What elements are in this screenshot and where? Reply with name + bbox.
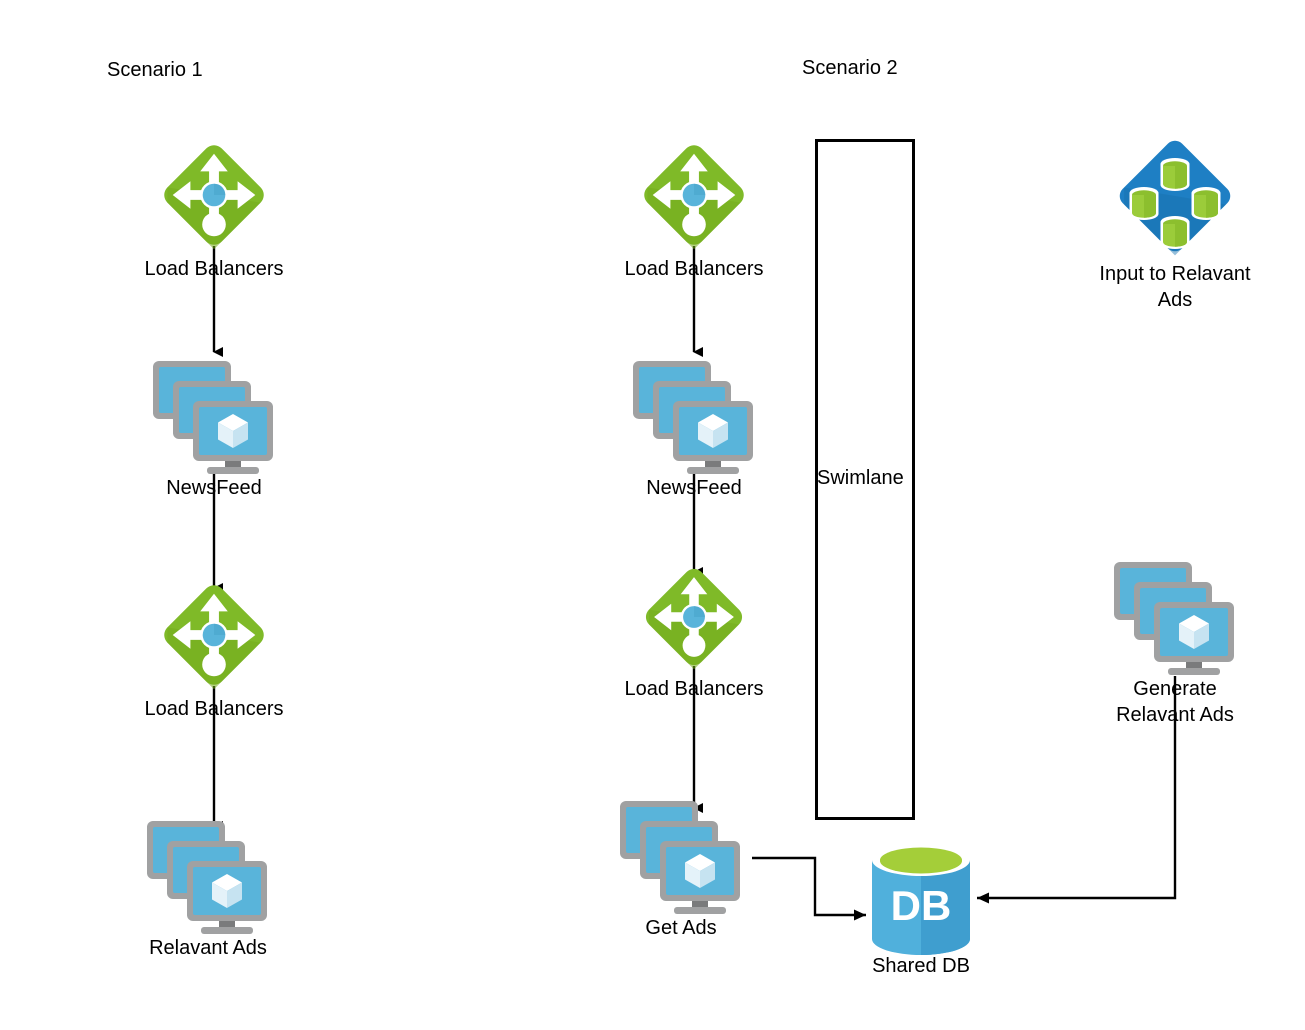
swimlane-label: Swimlane [817, 466, 904, 490]
node-s2-shared-db[interactable]: DB Shared DB [821, 843, 1021, 979]
load-balancer-icon [633, 560, 755, 674]
load-balancer-icon [153, 136, 275, 254]
database-cylinder-icon: DB [866, 843, 976, 957]
node-label: Load Balancers [594, 676, 794, 702]
cylinder-bottom [1161, 216, 1190, 249]
virtual-machines-icon [145, 817, 271, 935]
virtual-machines-icon [1112, 558, 1238, 676]
diagram-canvas: Scenario 1 Scenario 2 Swimlane [0, 0, 1305, 1030]
node-s1-newsfeed[interactable]: NewsFeed [114, 357, 314, 501]
node-label: Load Balancers [114, 696, 314, 722]
cylinder-left [1130, 187, 1159, 220]
cylinder-right [1192, 187, 1221, 220]
virtual-machines-icon [631, 357, 757, 475]
node-s1-relavant-ads[interactable]: Relavant Ads [108, 817, 308, 961]
scenario-1-title: Scenario 1 [107, 58, 203, 82]
node-label: Relavant Ads [108, 935, 308, 961]
scenario-2-title: Scenario 2 [802, 56, 898, 80]
node-s1-load-balancers-1[interactable]: Load Balancers [114, 136, 314, 282]
node-s1-load-balancers-2[interactable]: Load Balancers [114, 576, 314, 722]
node-label: Generate Relavant Ads [1075, 676, 1275, 728]
node-label: Get Ads [581, 915, 781, 941]
node-s2-load-balancers-1[interactable]: Load Balancers [594, 136, 794, 282]
db-glyph-text: DB [891, 882, 952, 929]
node-label: Load Balancers [594, 256, 794, 282]
node-s2-input-to-relavant-ads[interactable]: Input to Relavant Ads [1075, 133, 1275, 313]
node-s2-load-balancers-2[interactable]: Load Balancers [594, 560, 794, 702]
node-s2-get-ads[interactable]: Get Ads [581, 797, 781, 941]
data-diamond-icon [1113, 133, 1237, 259]
node-label: Load Balancers [114, 256, 314, 282]
node-label: NewsFeed [114, 475, 314, 501]
cylinder-top [1161, 158, 1190, 191]
load-balancer-icon [633, 136, 755, 254]
virtual-machines-icon [618, 797, 744, 915]
node-label: NewsFeed [594, 475, 794, 501]
node-label: Input to Relavant Ads [1075, 261, 1275, 313]
node-s2-newsfeed[interactable]: NewsFeed [594, 357, 794, 501]
node-s2-generate-relavant-ads[interactable]: Generate Relavant Ads [1075, 558, 1275, 728]
load-balancer-icon [153, 576, 275, 694]
virtual-machines-icon [151, 357, 277, 475]
